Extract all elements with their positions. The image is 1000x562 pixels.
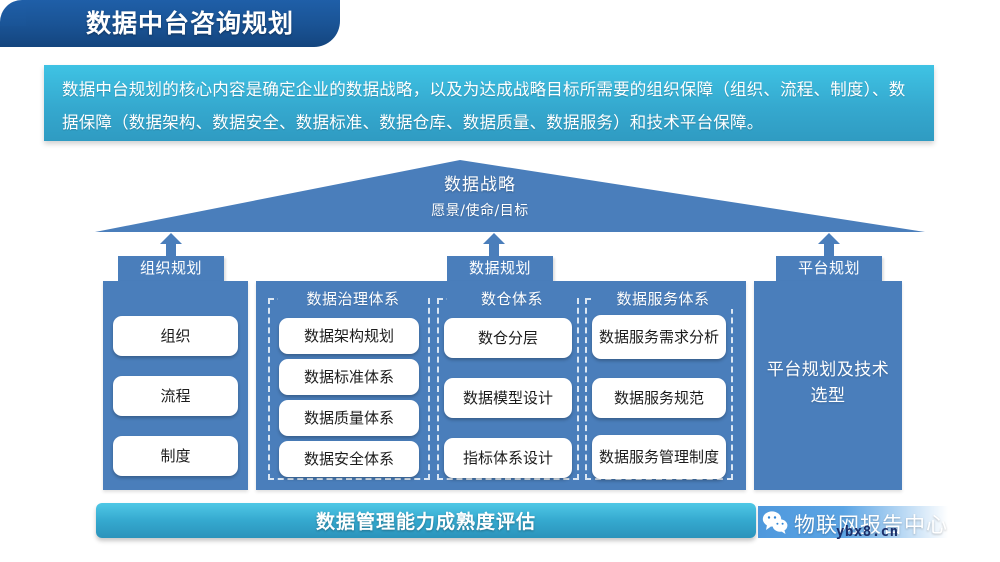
tab-organization-planning[interactable]: 组织规划 xyxy=(118,256,224,281)
card-system[interactable]: 制度 xyxy=(113,436,238,476)
watermark: 物联网报告中心 ybx8.cn xyxy=(758,504,990,542)
wechat-icon xyxy=(762,510,788,534)
card-data-model-design[interactable]: 数据模型设计 xyxy=(444,378,572,418)
banner-notch xyxy=(0,0,26,26)
description-box: 数据中台规划的核心内容是确定企业的数据战略，以及为达成战略目标所需要的组织保障（… xyxy=(44,65,934,141)
card-data-quality-system[interactable]: 数据质量体系 xyxy=(279,400,419,436)
watermark-url: ybx8.cn xyxy=(836,524,899,540)
card-data-architecture-planning[interactable]: 数据架构规划 xyxy=(279,318,419,354)
card-warehouse-layering[interactable]: 数仓分层 xyxy=(444,318,572,358)
maturity-assessment-bar: 数据管理能力成熟度评估 xyxy=(96,503,756,538)
card-data-security-system[interactable]: 数据安全体系 xyxy=(279,441,419,477)
roof-subtitle: 愿景/使命/目标 xyxy=(380,200,580,220)
page-title: 数据中台咨询规划 xyxy=(86,6,336,42)
card-organization[interactable]: 组织 xyxy=(113,316,238,356)
card-data-service-management-system[interactable]: 数据服务管理制度 xyxy=(592,435,726,479)
subgroup-title-data-warehouse: 数仓体系 xyxy=(447,288,577,309)
card-data-service-specification[interactable]: 数据服务规范 xyxy=(592,378,726,418)
card-metric-system-design[interactable]: 指标体系设计 xyxy=(444,438,572,478)
subgroup-title-data-governance: 数据治理体系 xyxy=(278,288,428,309)
card-data-service-requirement-analysis[interactable]: 数据服务需求分析 xyxy=(592,315,726,359)
subgroup-title-data-service: 数据服务体系 xyxy=(591,288,735,309)
platform-planning-body: 平台规划及技术选型 xyxy=(760,357,896,409)
tab-data-planning[interactable]: 数据规划 xyxy=(447,256,553,281)
roof-title: 数据战略 xyxy=(380,170,580,195)
card-data-standard-system[interactable]: 数据标准体系 xyxy=(279,359,419,395)
tab-platform-planning[interactable]: 平台规划 xyxy=(776,256,882,281)
card-process[interactable]: 流程 xyxy=(113,376,238,416)
